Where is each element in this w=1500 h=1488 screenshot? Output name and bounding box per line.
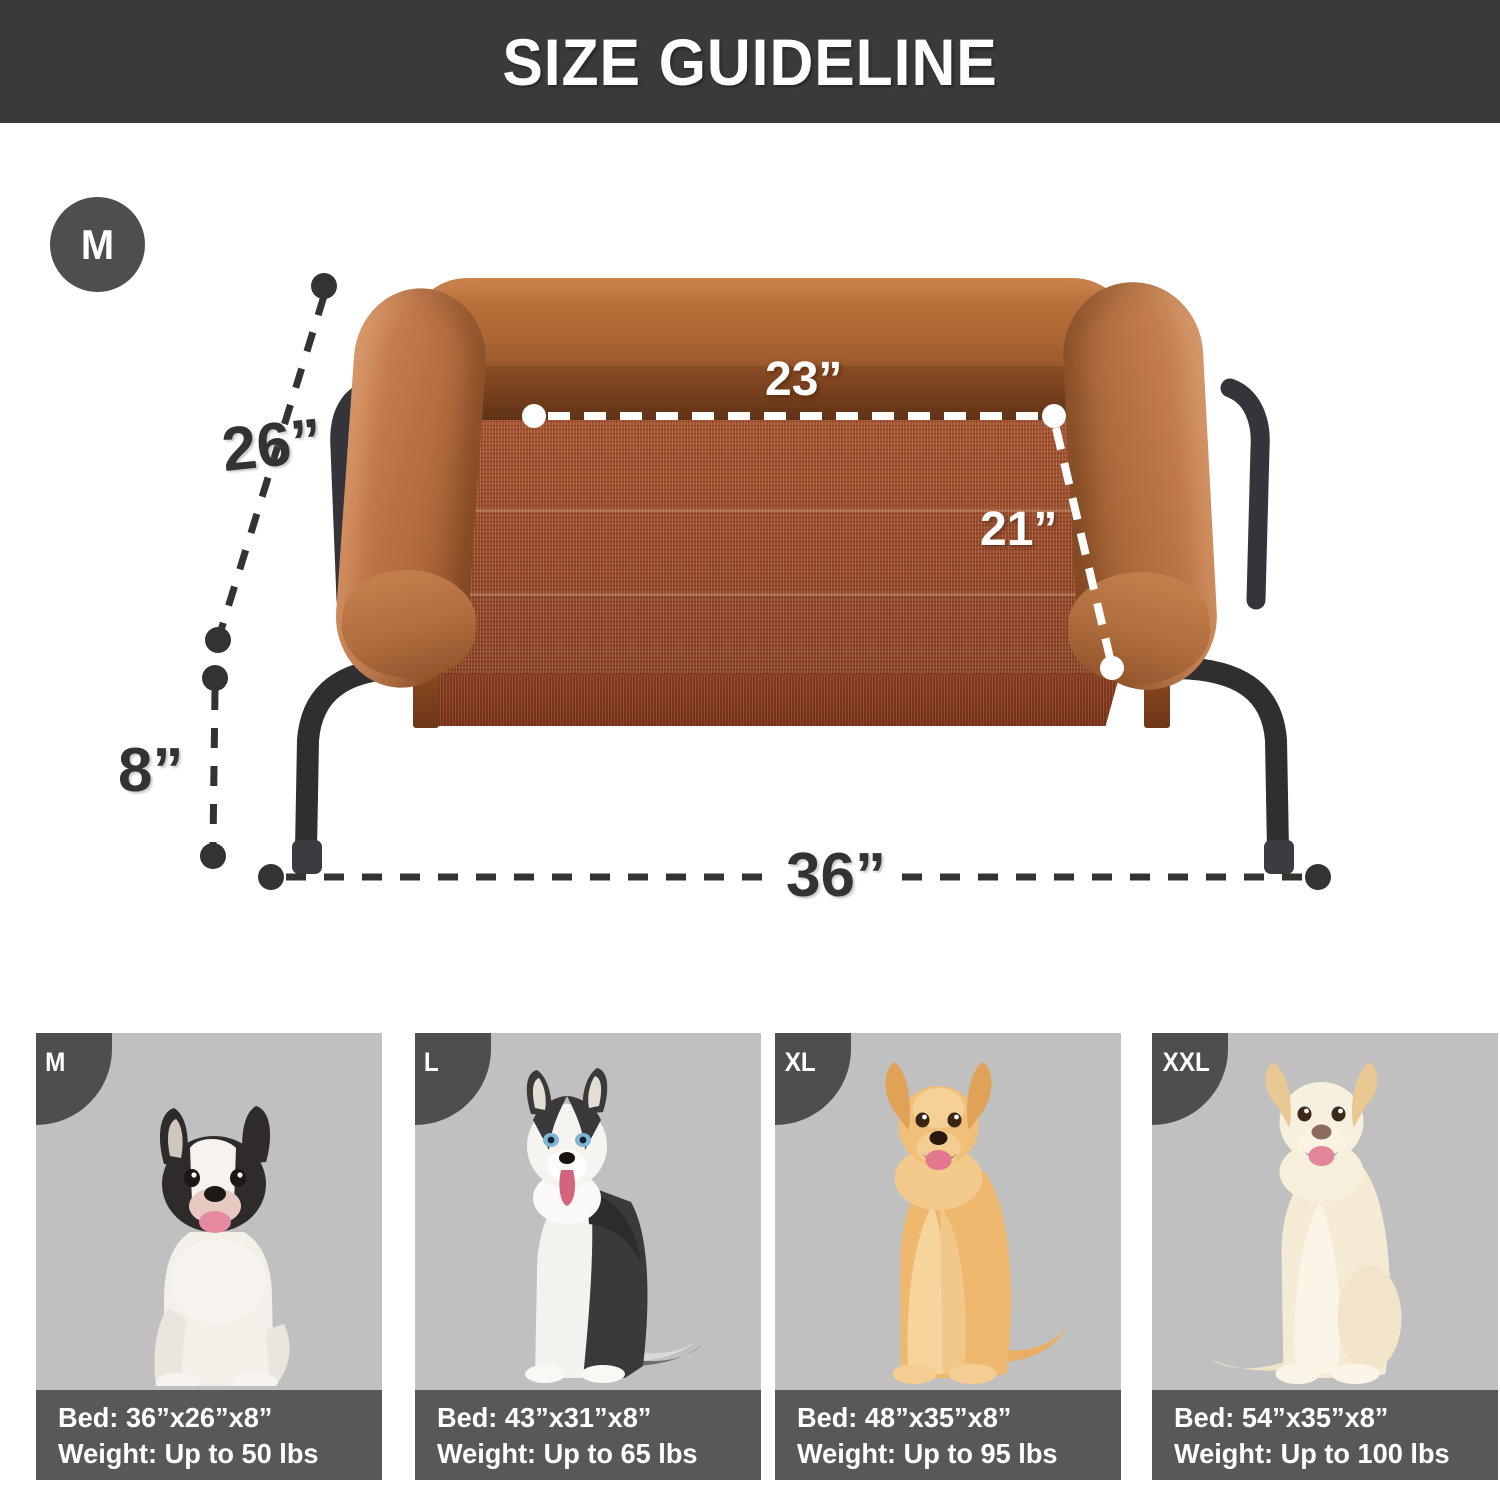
card-bed-dimensions: Bed: 36”x26”x8” (58, 1400, 372, 1436)
card-weight-limit: Weight: Up to 50 lbs (58, 1436, 372, 1472)
card-weight-limit: Weight: Up to 65 lbs (437, 1436, 751, 1472)
card-weight-limit: Weight: Up to 100 lbs (1174, 1436, 1488, 1472)
card-footer-l: Bed: 43”x31”x8” Weight: Up to 65 lbs (415, 1390, 761, 1480)
size-card-m[interactable]: M Bed: 36”x26”x8” Weight: Up to 50 lbs (36, 1033, 382, 1480)
card-weight-limit: Weight: Up to 95 lbs (797, 1436, 1111, 1472)
golden-retriever-icon (821, 1056, 1076, 1386)
size-card-xl[interactable]: XL Bed: 48”x35”x8” Weight: Up to 95 lbs (775, 1033, 1121, 1480)
dimension-label-21: 21” (980, 502, 1057, 557)
card-size-label: L (424, 1047, 439, 1078)
siberian-husky-icon (463, 1066, 713, 1386)
card-bed-dimensions: Bed: 43”x31”x8” (437, 1400, 751, 1436)
page-title: SIZE GUIDELINE (60, 0, 1440, 123)
card-size-label: XXL (1163, 1047, 1210, 1078)
card-bed-dimensions: Bed: 54”x35”x8” (1174, 1400, 1488, 1436)
dimension-label-23: 23” (765, 352, 842, 407)
card-footer-xl: Bed: 48”x35”x8” Weight: Up to 95 lbs (775, 1390, 1121, 1480)
card-size-label: M (45, 1047, 65, 1078)
size-badge-m: M (50, 197, 145, 292)
dimension-label-8: 8” (118, 735, 183, 806)
dimension-label-26: 26” (219, 405, 326, 486)
card-footer-m: Bed: 36”x26”x8” Weight: Up to 50 lbs (36, 1390, 382, 1480)
card-footer-xxl: Bed: 54”x35”x8” Weight: Up to 100 lbs (1152, 1390, 1498, 1480)
size-card-xxl[interactable]: XXL Bed: 54”x35”x8” Weight: Up to 100 lb… (1152, 1033, 1498, 1480)
labrador-retriever-icon (1198, 1056, 1453, 1386)
size-cards-row: M Bed: 36”x26”x8” Weight: Up to 50 lbs (0, 1033, 1500, 1488)
mesh-front-edge (413, 674, 1127, 726)
card-bed-dimensions: Bed: 48”x35”x8” (797, 1400, 1111, 1436)
french-bulldog-icon (94, 1086, 324, 1386)
size-card-l[interactable]: L Bed: 43”x31”x8” Weight: Up to 65 lbs (415, 1033, 761, 1480)
size-badge-label: M (81, 221, 114, 269)
dimension-label-36: 36” (786, 840, 886, 911)
card-size-label: XL (785, 1047, 816, 1078)
